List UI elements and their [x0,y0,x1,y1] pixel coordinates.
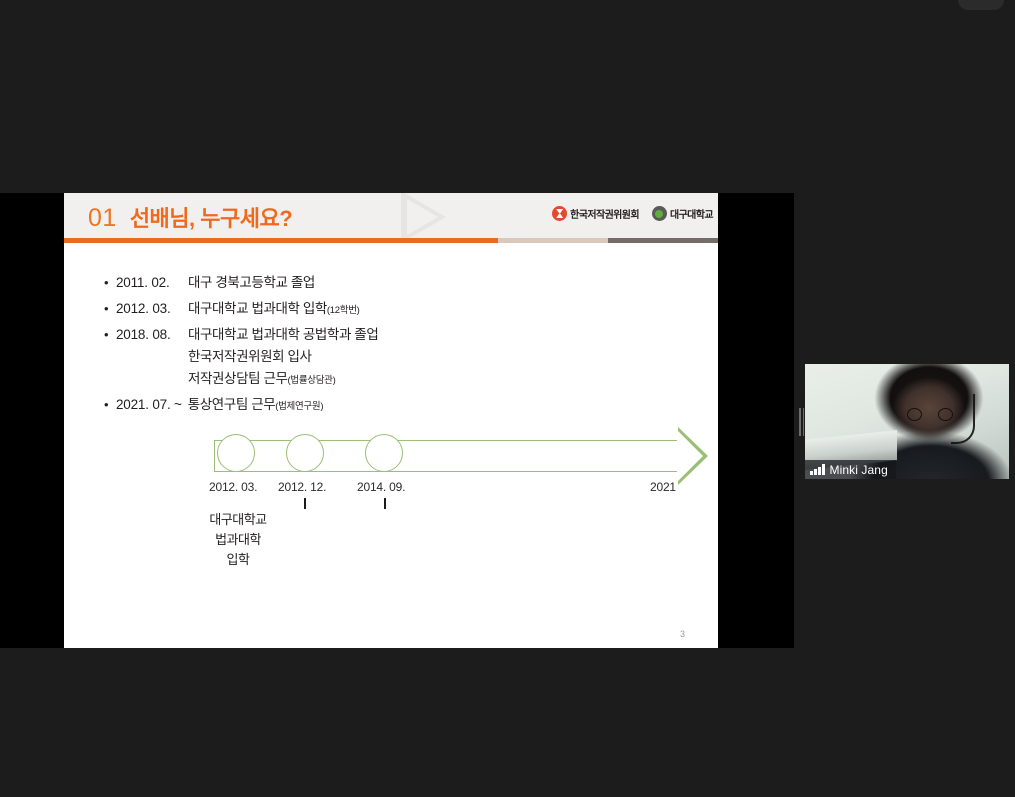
bullet-date: 2021. 07. ~ [116,394,182,416]
bullet-line-text: 대구대학교 법과대학 공법학과 졸업 [188,327,378,342]
video-tile-drag-handle[interactable] [798,408,805,436]
kcc-logo-icon [552,206,567,221]
participant-video-tile[interactable]: Minki Jang [805,364,1009,479]
bullet-dot-icon: • [104,394,116,416]
list-item: • 2021. 07. ~ 통상연구팀 근무(법제연구원) [104,394,624,416]
bullet-body: 대구대학교 법과대학 입학(12학번) [188,298,360,320]
timeline-label: 2012. 12. [278,480,326,494]
window-chrome-pill [958,0,1004,10]
bullet-body: 대구 경북고등학교 졸업 [188,272,315,294]
bullet-line-text: 통상연구팀 근무 [188,397,276,412]
timeline-bar [214,440,686,472]
list-item: • 2012. 03. 대구대학교 법과대학 입학(12학번) [104,298,624,320]
logo-row: 한국저작권위원회 대구대학교 [552,206,713,221]
daegu-university-logo-icon [652,206,667,221]
bullet-dot-icon: • [104,272,116,294]
slide-header: 01 선배님, 누구세요? 한국저작권위원회 대구대학교 [64,193,718,238]
accent-segment-gray [608,238,718,243]
accent-segment-beige [498,238,608,243]
bullet-date: 2018. 08. [116,324,188,346]
bullet-line-text: 한국저작권위원회 입사 [188,349,312,364]
signal-bars-icon [810,464,825,475]
headset-boom-icon [951,394,975,444]
list-item: • 2018. 08. 대구대학교 법과대학 공법학과 졸업 한국저작권위원회 … [104,324,624,390]
bullet-date: 2012. 03. [116,298,188,320]
timeline-node [286,434,324,472]
bullet-date: 2011. 02. [116,272,188,294]
header-accent-rule [64,238,718,243]
timeline-caption-line: 입학 [188,550,288,570]
participant-name-badge: Minki Jang [805,460,896,479]
bullet-body: 통상연구팀 근무(법제연구원) [188,394,323,416]
timeline-label: 2021 [650,480,676,494]
bullet-dot-icon: • [104,298,116,320]
bullet-body: 대구대학교 법과대학 공법학과 졸업 한국저작권위원회 입사 저작권상담팀 근무… [188,324,378,390]
glasses-icon [907,408,953,421]
biography-bullet-list: • 2011. 02. 대구 경북고등학교 졸업 • 2012. 03. 대구대… [104,272,624,420]
slide-title-group: 01 선배님, 누구세요? [88,201,292,233]
timeline-arrowhead-inner-icon [677,430,703,482]
page-title: 선배님, 누구세요? [130,201,292,233]
timeline-caption-line: 대구대학교 [188,510,288,530]
slide-page-number: 3 [680,629,685,639]
bullet-line-note: (법률상담관) [288,375,336,386]
logo-daegu: 대구대학교 [652,206,713,221]
timeline-tick-mark [304,498,306,509]
accent-segment-orange [64,238,498,243]
bullet-line-text: 저작권상담팀 근무 [188,371,288,386]
bullet-line-note: (법제연구원) [275,401,323,412]
logo-kcc-label: 한국저작권위원회 [570,206,639,221]
career-timeline: 2012. 03. 2012. 12. 2014. 09. 2021 대구대학교… [150,434,710,614]
bullet-line-text: 대구대학교 법과대학 입학 [188,301,327,316]
participant-name-label: Minki Jang [830,463,888,477]
timeline-node [365,434,403,472]
timeline-node [217,434,255,472]
slide-section-number: 01 [88,204,117,233]
logo-daegu-label: 대구대학교 [670,206,713,221]
timeline-caption-line: 법과대학 [188,530,288,550]
shared-slide[interactable]: 01 선배님, 누구세요? 한국저작권위원회 대구대학교 [64,193,718,648]
timeline-caption: 대구대학교 법과대학 입학 [188,510,288,570]
bullet-dot-icon: • [104,324,116,346]
timeline-tick-mark [384,498,386,509]
bullet-line-text: 대구 경북고등학교 졸업 [188,275,315,290]
timeline-label: 2014. 09. [357,480,405,494]
bullet-line-note: (12학번) [327,305,360,316]
timeline-label: 2012. 03. [209,480,257,494]
logo-kcc: 한국저작권위원회 [552,206,639,221]
play-triangle-watermark-inner-icon [407,199,438,235]
list-item: • 2011. 02. 대구 경북고등학교 졸업 [104,272,624,294]
meeting-stage: 01 선배님, 누구세요? 한국저작권위원회 대구대학교 [0,0,1015,797]
